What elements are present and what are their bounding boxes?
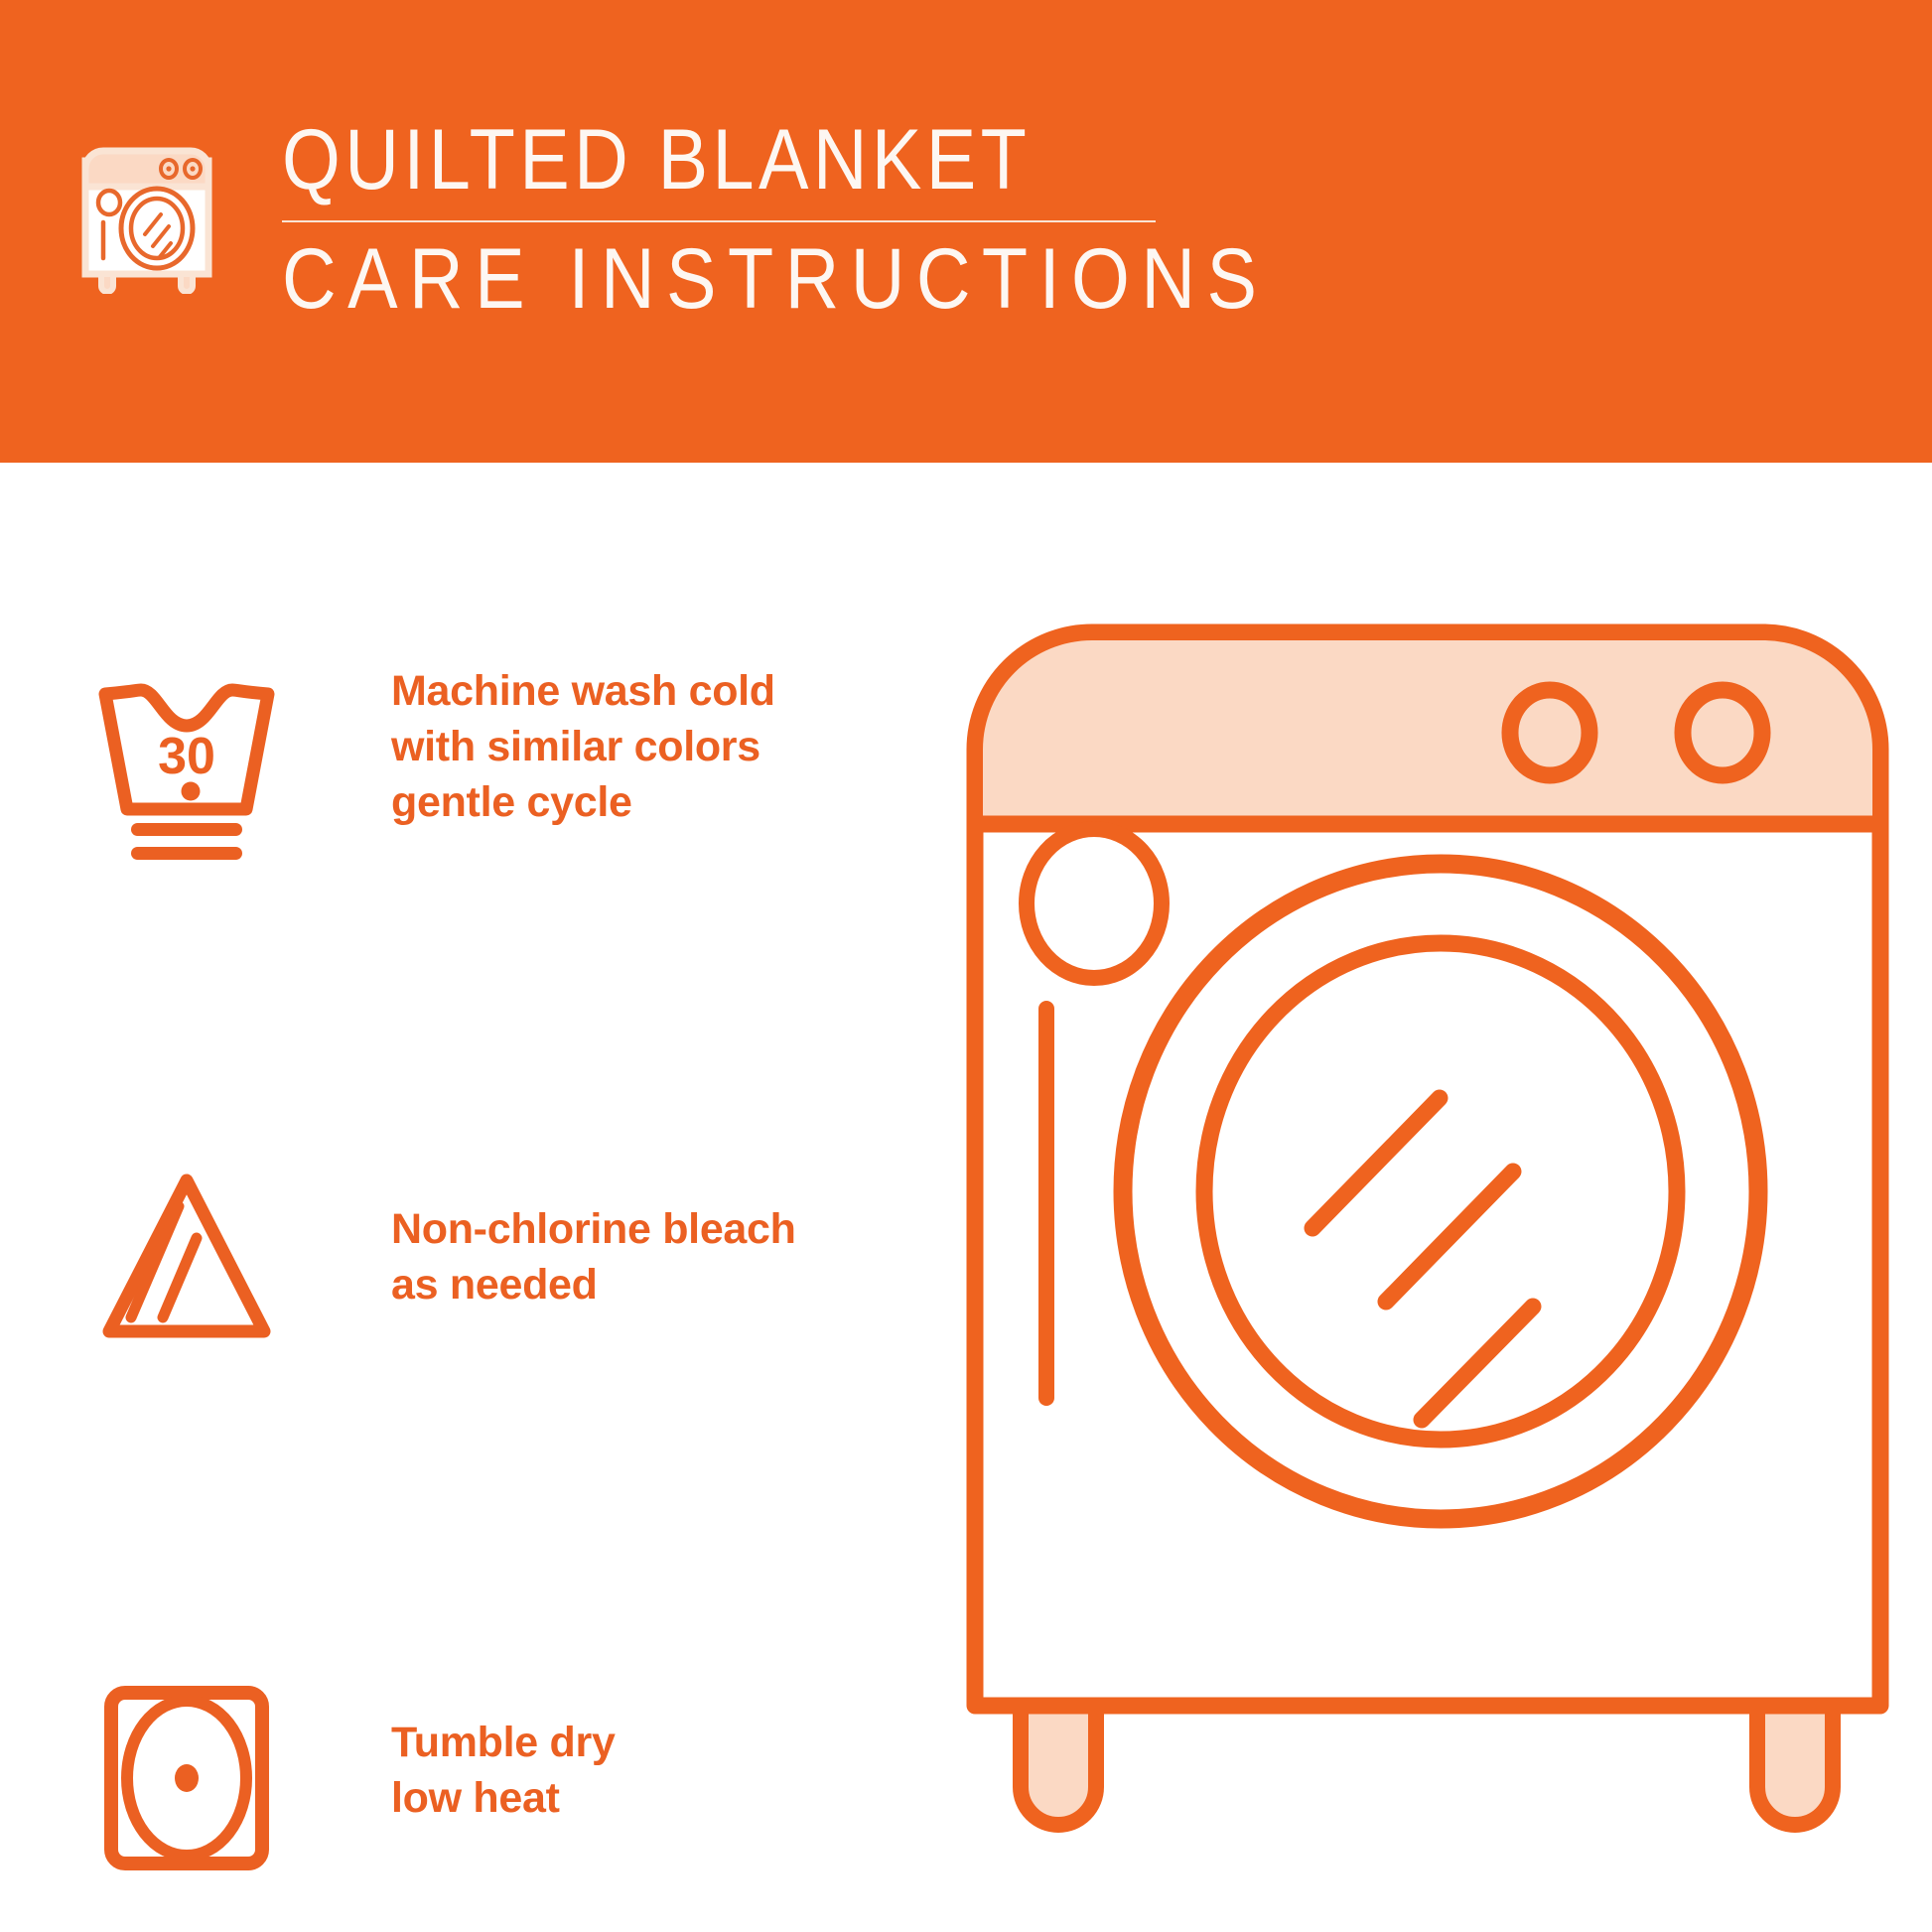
care-line: Machine wash cold: [391, 664, 858, 720]
care-line: with similar colors: [391, 720, 858, 775]
washing-machine-logo-icon: [77, 127, 216, 294]
washing-machine-illustration: [943, 596, 1932, 1906]
page-title: QUILTED BLANKET: [282, 117, 972, 205]
care-text-wash: Machine wash cold with similar colors ge…: [391, 664, 858, 831]
care-line: Tumble dry: [391, 1716, 858, 1771]
page-subtitle: CARE INSTRUCTIONS: [282, 236, 972, 324]
title-divider: [282, 220, 1156, 222]
wash-tub-30-gentle-icon: 30: [87, 670, 286, 869]
care-row-tumble-dry: Tumble dry low heat: [0, 1147, 894, 1395]
care-line: low heat: [391, 1771, 858, 1827]
care-row-iron: Iron if needed low heat: [0, 1395, 894, 1643]
header-text-block: QUILTED BLANKET CARE INSTRUCTIONS: [282, 117, 1066, 323]
care-instruction-list: 30 Machine wash cold with similar colors…: [0, 650, 894, 1643]
washer-control-panel: [983, 640, 1872, 822]
care-row-wash: 30 Machine wash cold with similar colors…: [0, 650, 894, 898]
care-text-tumble-dry: Tumble dry low heat: [391, 1716, 858, 1827]
header-banner: QUILTED BLANKET CARE INSTRUCTIONS: [0, 0, 1932, 463]
care-instructions-page: QUILTED BLANKET CARE INSTRUCTIONS 30: [0, 0, 1932, 1932]
tumble-dry-low-heat-icon: [87, 1679, 286, 1877]
care-line: gentle cycle: [391, 775, 858, 831]
wash-temperature-label: 30: [158, 728, 215, 785]
care-row-bleach: Non-chlorine bleach as needed: [0, 898, 894, 1147]
